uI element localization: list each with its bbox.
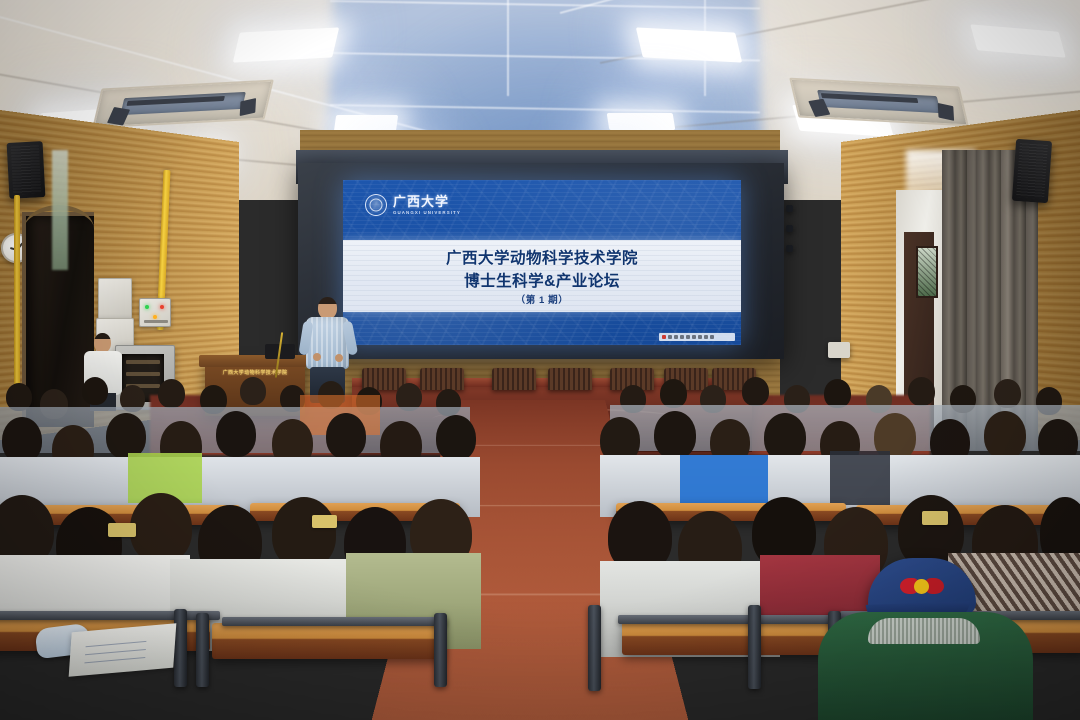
wall-bracket	[786, 245, 793, 252]
wall-control-panel[interactable]	[139, 298, 171, 327]
projection-screen-frame: 广西大学 GUANGXI UNIVERSITY 广西大学动物科学技术学院 博士生…	[298, 163, 784, 359]
logo-english-name: GUANGXI UNIVERSITY	[393, 210, 461, 215]
audience-head	[82, 377, 108, 405]
seat-back-rail	[618, 615, 848, 624]
projector-osd-bar[interactable]	[659, 333, 735, 341]
audience-head	[654, 411, 696, 459]
audience-head	[984, 411, 1026, 459]
wall-speaker	[7, 141, 46, 199]
slide-title-line1: 广西大学动物科学技术学院	[343, 246, 741, 268]
slide-subtitle: （第 1 期）	[343, 292, 741, 306]
seat-back-rail	[222, 617, 447, 626]
audience-desk	[212, 623, 444, 659]
red-bull-logo-icon	[900, 578, 944, 596]
led-panel-light	[607, 113, 676, 130]
handout-paper	[69, 623, 177, 677]
wall-bracket	[786, 225, 793, 232]
audience-head	[742, 377, 769, 406]
electrical-box	[98, 278, 132, 320]
door-glass-pane	[52, 150, 68, 270]
projection-screen: 广西大学 GUANGXI UNIVERSITY 广西大学动物科学技术学院 博士生…	[343, 180, 741, 345]
logo-chinese-name: 广西大学	[393, 195, 461, 210]
audience-head	[908, 377, 935, 406]
led-panel-light	[636, 27, 742, 62]
audience-head	[764, 413, 806, 461]
hair-clip	[108, 523, 136, 537]
audience-shoulders	[830, 451, 890, 505]
slide-title-line2: 博士生科学&产业论坛	[343, 269, 741, 291]
seat-support-post	[588, 605, 601, 691]
seat-back-rail	[0, 611, 220, 620]
audience-head	[130, 493, 192, 563]
green-shirt-attendee	[818, 612, 1033, 720]
ceiling-ac-vent	[92, 80, 274, 129]
hair-clip	[922, 511, 948, 525]
audience-desk	[622, 621, 842, 655]
seat-support-post	[174, 609, 187, 687]
lecture-hall-photo: 广西大学 GUANGXI UNIVERSITY 广西大学动物科学技术学院 博士生…	[0, 0, 1080, 720]
audience-head	[240, 377, 266, 405]
audience-head	[436, 415, 476, 461]
led-panel-light	[970, 24, 1066, 57]
hair-clip	[312, 515, 337, 528]
university-seal-icon	[365, 194, 387, 216]
seat-support-post	[748, 605, 761, 689]
university-logo: 广西大学 GUANGXI UNIVERSITY	[365, 194, 461, 216]
seat-support-post	[434, 613, 447, 687]
led-panel-light	[233, 27, 339, 62]
seat-support-post	[196, 613, 209, 687]
audience-head	[158, 379, 185, 408]
audience-head	[994, 379, 1021, 408]
audience-head	[216, 411, 256, 457]
slide-title-band: 广西大学动物科学技术学院 博士生科学&产业论坛 （第 1 期）	[343, 240, 741, 312]
wall-speaker	[1012, 139, 1052, 203]
audience-head	[824, 379, 851, 408]
audience-head	[326, 413, 366, 459]
wall-bracket	[786, 205, 793, 212]
audience-head	[660, 379, 687, 408]
